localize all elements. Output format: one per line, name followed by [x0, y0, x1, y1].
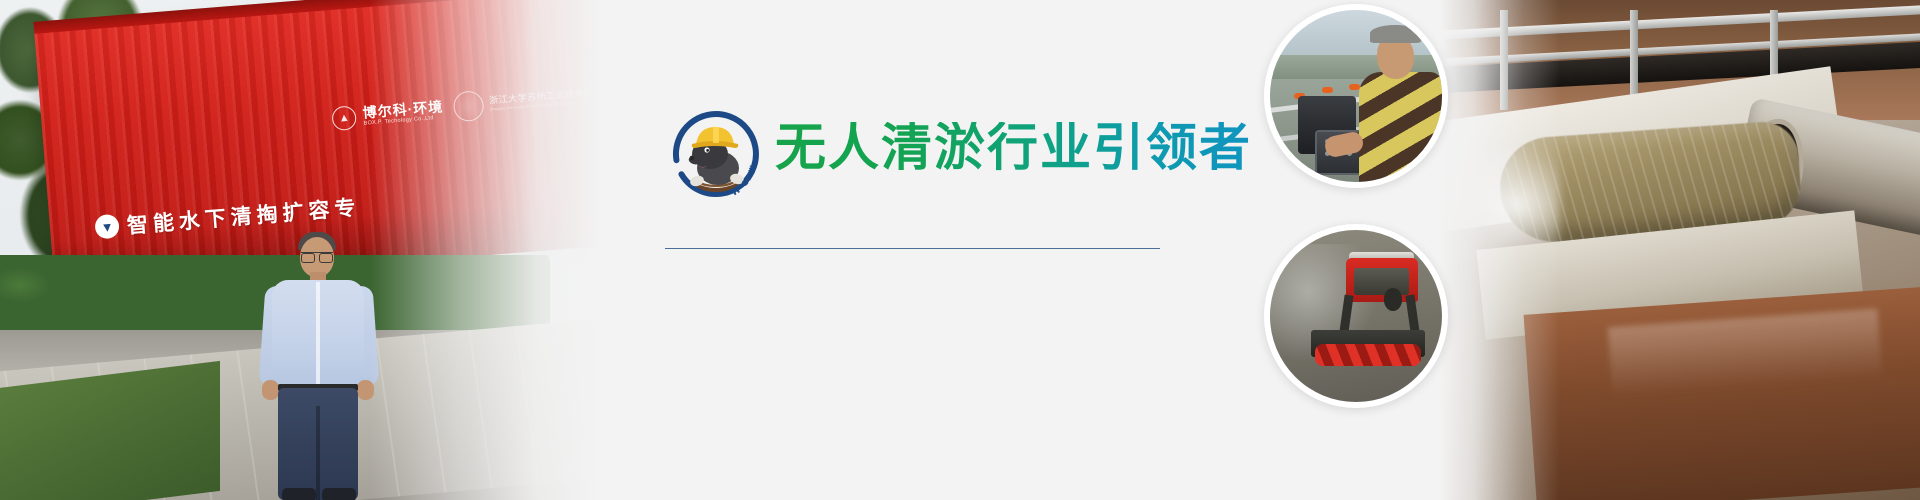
- center-content: MUD MOLE 无人清淤行业引领者: [655, 0, 1215, 500]
- buoy-2: [1322, 87, 1333, 93]
- auger-screw: [1315, 344, 1422, 366]
- robot-wheel: [1384, 288, 1403, 310]
- mud-mole-logo: MUD MOLE: [670, 108, 762, 200]
- dredging-robot-photo: [1264, 224, 1448, 408]
- left-hero-photo: ▲ 博尔科·环境 BOX.P. Techology Co.,Ltd 浙江大学苏州…: [0, 0, 600, 500]
- left-photo-fade: [370, 0, 600, 500]
- person-shirt-placket: [316, 282, 320, 387]
- right-hero-photo: [1440, 0, 1920, 500]
- person-right-shoe: [322, 488, 356, 500]
- hero-banner: ▲ 博尔科·环境 BOX.P. Techology Co.,Ltd 浙江大学苏州…: [0, 0, 1920, 500]
- title-divider: [665, 248, 1160, 249]
- page-title: 无人清淤行业引领者: [775, 122, 1252, 173]
- person-glasses: [301, 252, 333, 261]
- operator-cap: [1370, 25, 1422, 42]
- brand-seal-icon: ▲: [331, 105, 357, 131]
- person-left-shoe: [282, 488, 316, 500]
- person-trousers: [278, 388, 358, 500]
- slogan-badge-icon: ▼: [94, 214, 120, 240]
- robot-machinery: [1354, 268, 1409, 296]
- operator-console-photo: [1264, 4, 1448, 188]
- operator-striped-shirt: [1359, 72, 1442, 182]
- person-left-hand: [262, 380, 279, 400]
- right-photo-fade: [1440, 0, 1560, 500]
